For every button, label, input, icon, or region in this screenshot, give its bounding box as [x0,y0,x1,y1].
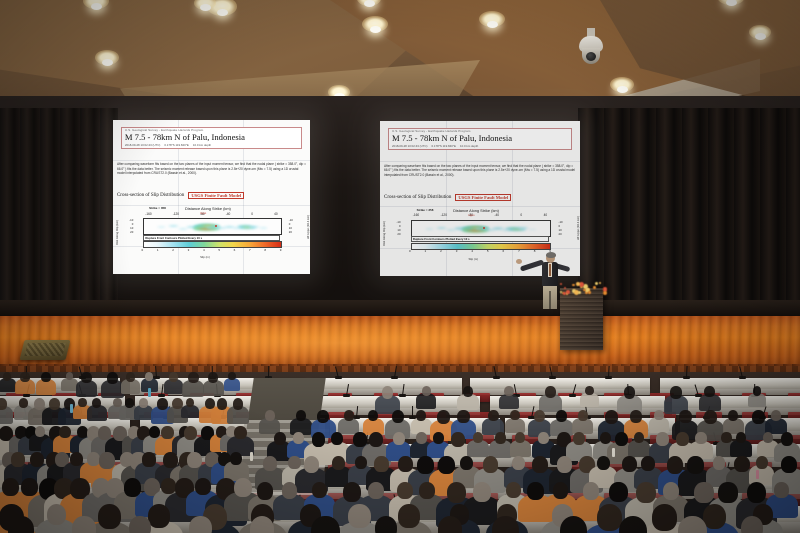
y-axis-ticks-left: -10 0 10 20 [396,220,400,235]
x-tick: -120 [441,213,447,217]
audience-head [217,398,228,410]
auditorium-photo: U.S. Geological Survey - Earthquake Haza… [0,0,800,533]
audience-head [512,456,525,470]
colorbar-tick: 1 [425,249,427,253]
audience-head [3,372,11,381]
colorbar-tick: 6 [503,249,505,253]
downlight-core [755,33,766,40]
audience-head [20,372,29,382]
slide-body-text: After comparing waveform fits based on t… [384,164,576,178]
audience-head [355,456,367,469]
presenter-hair [546,252,556,258]
audience-head [148,504,170,528]
audience-head [704,386,714,397]
projection-screen-left: U.S. Geological Survey - Earthquake Haza… [113,120,310,274]
audience-head [510,410,520,420]
audience-head [676,432,689,446]
y-axis-title-right: dZ Hypo (10.4 km) [306,215,310,239]
audience-head [781,432,794,446]
water-bottle [756,470,759,479]
audience-head [344,410,354,421]
audience-head [734,456,749,472]
audience-head [149,426,160,438]
audience-head [630,410,642,423]
audience-head [398,504,420,528]
audience-head [636,482,656,503]
audience-head [382,386,394,399]
slip-patch [168,225,179,227]
audience-head [495,432,506,444]
slide-body-text: After comparing waveform fits based on t… [117,162,306,176]
section-heading-row: Cross-section of Slip Distribution USGS … [384,194,576,201]
x-axis-ticks: -160 -120 -80 -40 0 40 [413,213,547,217]
lectern-panel-texture [560,288,603,350]
lectern [560,288,603,350]
audience-head [747,482,767,503]
event-depth: 10.0 km depth [460,144,478,148]
audience-head [98,504,121,529]
audience-head [473,432,483,443]
audience-head [161,478,176,494]
downlight-core [91,3,102,10]
audience-head [624,386,636,399]
colorbar-tick: 3 [456,249,458,253]
x-tick: -160 [413,213,419,217]
audience-head [348,504,371,528]
audience-head [374,456,388,472]
audience-head [622,456,637,472]
audience-head [583,482,599,500]
x-axis-title: Distance Along Strike (km) [453,208,499,213]
audience-head [195,478,211,495]
audience-head [145,372,153,381]
section-label: Cross-section of Slip Distribution [117,193,184,198]
contour-note: Rupture Front Contours Plotted Every 10 … [411,236,549,242]
flower [595,282,598,285]
wall-trim [0,300,800,316]
audience-head [527,482,544,500]
audience-head [515,432,525,443]
audience-head [506,482,521,498]
x-tick: 40 [274,212,278,216]
audience-head [331,432,343,445]
finite-fault-badge: USGS Finite Fault Model [455,194,511,201]
y-axis-title-left: Dist Along Dip (km) [115,220,119,245]
x-tick: -160 [145,212,151,216]
audience-head [398,456,413,472]
slip-patch [446,229,456,231]
audience-head [126,372,135,382]
audience-head [504,386,514,396]
downlight-core [217,9,228,16]
audience-head [263,456,277,471]
audience-head [41,372,51,382]
colorbar-tick: 5 [487,249,489,253]
flower [564,287,567,290]
usgs-slide: U.S. Geological Survey - Earthquake Haza… [113,120,310,274]
flower [566,290,570,294]
audience-head [718,482,737,503]
audience-head [736,432,746,443]
x-tick: 0 [520,213,522,217]
audience-head [578,410,588,421]
audience-head [397,482,413,499]
audience-head [615,432,628,446]
audience-head [353,432,367,447]
audience-head [641,456,655,471]
x-tick: 0 [251,212,253,216]
event-datetime: 2018-09-28 10:02:43 (UTC) [125,143,161,147]
y-tick: 20 [397,232,400,236]
audience-head [0,398,7,410]
audience-head [293,432,304,444]
section-label: Cross-section of Slip Distribution [384,195,451,200]
x-tick: -120 [173,212,179,216]
audience-head [721,432,731,443]
audience-head [781,456,797,473]
audience-head [343,482,361,502]
stage-curtain-left [0,108,118,320]
downlight-core [364,0,375,7]
audience-head [129,516,151,533]
flower [588,291,590,293]
audience-head [438,456,455,474]
y-tick: 20 [130,230,133,234]
lecture-desk [660,378,800,389]
colorbar-tick: 0 [142,248,144,252]
colorbar-tick: 2 [440,249,442,253]
audience-head [230,452,242,465]
audience-head [585,386,594,395]
audience-head [483,456,498,473]
audience-head [188,372,198,383]
audience-head [368,482,384,499]
audience-head [600,432,611,444]
audience-head [704,410,717,424]
audience-head [416,410,426,421]
dome-security-camera [576,28,606,70]
slide-header: U.S. Geological Survey - Earthquake Haza… [121,127,302,149]
water-bottle [612,448,615,457]
audience-head [184,426,197,440]
audience-head [139,398,148,408]
audience-head [538,432,549,444]
audience-head [756,456,768,469]
audience-head [741,516,763,533]
audience-head [687,456,704,474]
audience-head [451,432,465,447]
audience-head [257,482,273,500]
audience-head [332,456,345,470]
flower [599,282,601,284]
audience-head [208,372,218,383]
downlight-core [200,4,211,11]
audience-head [695,432,706,444]
audience-head [417,456,433,474]
audience-head [21,478,38,496]
audience-head [49,398,60,410]
audience-head [288,456,300,469]
audience-head [11,452,25,467]
event-meta: 2018-09-28 10:02:43 (UTC) 0.178°S 119.84… [125,143,298,147]
downlight-core [102,59,113,66]
slip-patch [425,228,434,230]
audience-head [8,516,33,533]
slip-patch [259,227,268,229]
y-axis-ticks-right: -10 0 10 20 [559,220,563,235]
audience-head [656,432,669,446]
audience-head [771,410,781,421]
audience-head [19,398,28,408]
audience-head [422,386,432,396]
colorbar-tick: 5 [218,248,220,252]
flower [572,284,574,286]
audience-head [679,410,691,423]
audience-head [163,452,178,468]
audience-head [609,482,627,502]
colorbar-tick: 1 [157,248,159,252]
audience-head [234,426,246,439]
water-bottle [250,452,253,461]
x-tick: -40 [226,212,231,216]
colorbar-tick: 8 [264,248,266,252]
colorbar-tick: 2 [172,248,174,252]
audience-head [35,426,45,437]
flower [576,282,580,286]
desk-microphone [412,406,413,418]
audience-head [670,386,682,399]
presenter-tie [549,264,551,276]
audience-head [753,386,762,396]
podium-flower-arrangement [556,281,608,295]
colorbar-tick: 9 [280,248,282,252]
flower [560,283,562,285]
audience-head [99,452,114,469]
audience-head [557,456,572,473]
audience-head [72,516,96,533]
audience-head [265,410,275,421]
hypocenter-marker [215,225,217,227]
audience-head [189,516,212,533]
audience-head [142,452,155,467]
presenter-leg-gap [549,291,551,309]
audience-head [667,456,683,474]
audience-head [532,456,548,473]
slip-heatmap [411,220,551,238]
hypocenter-label: Hypo [468,214,474,217]
hypocenter-label: Hypo [200,212,206,215]
y-tick: 20 [559,232,562,236]
flower [593,286,596,289]
slip-patch [528,229,537,231]
contour-note: Rupture Front Contours Plotted Every 10 … [143,235,279,241]
audience-head [545,386,556,398]
downlight-core [487,21,498,28]
audience-head [663,482,680,500]
colorbar-label: Slip (m) [468,257,478,261]
colorbar-tick: 6 [234,248,236,252]
audience-head [573,432,585,445]
audience-head [433,432,444,444]
stage-curtain-right [578,108,800,320]
audience-head [457,410,469,423]
audience-head [437,410,450,424]
audience-head [59,426,70,438]
event-coordinates: 0.178°S 119.840°E [164,143,188,147]
y-tick: 20 [289,230,292,234]
x-axis-ticks: -160 -120 -80 -40 0 40 [145,212,277,216]
audience-head [488,410,499,421]
downlight-core [617,86,628,93]
finite-fault-badge: USGS Finite Fault Model [188,192,244,199]
audience-head [274,432,286,445]
audience-head [70,452,83,466]
colorbar-tick: 7 [249,248,251,252]
audience-head [317,410,329,423]
y-axis-ticks-left: -10 0 10 20 [129,218,133,233]
water-bottle [70,404,73,413]
event-meta: 2018-09-28 10:02:43 (UTC) 0.178°S 119.84… [392,144,568,148]
colorbar-tick: 3 [188,248,190,252]
audience-head [694,482,713,503]
x-tick: 40 [544,213,548,217]
x-axis-title: Distance Along Strike (km) [185,206,231,211]
strike-label: Strike = 358 [417,208,434,212]
lecture-desk [470,378,650,389]
presenter-hand-left [516,259,522,264]
event-title: M 7.5 - 78km N of Palu, Indonesia [392,134,568,144]
audience-head [774,482,789,498]
audience-head [473,482,491,502]
x-tick: -40 [494,213,499,217]
audience-head [713,456,726,470]
water-bottle [148,388,151,397]
slip-patch [178,228,188,230]
event-coordinates: 0.178°S 119.840°E [432,144,456,148]
slide-header: U.S. Geological Survey - Earthquake Haza… [388,128,572,150]
audience-head [447,482,466,503]
slip-distribution-plot: Strike = 358 Distance Along Strike (km) … [117,206,306,268]
audience-head [282,482,298,499]
audience-head [463,386,473,397]
audience-head [169,372,178,382]
colorbar-tick: 0 [409,249,411,253]
audience-head [30,452,44,467]
event-datetime: 2018-09-28 10:02:43 (UTC) [392,144,428,148]
audience-head [369,432,383,447]
audience-head [728,410,738,421]
audience-head [125,398,134,408]
audience-head [78,398,87,407]
y-axis-ticks-right: -10 0 10 20 [289,218,293,233]
audience-head [304,456,320,473]
audience-head [157,398,168,410]
colorbar-ticks: 0123456789 [142,248,282,252]
lecture-desk [320,396,480,408]
audience-head [234,478,252,497]
audience-head [81,372,91,383]
desk-microphone [268,366,270,378]
y-axis-title-left: Dist Along Dip (km) [382,221,386,246]
audience-head [534,410,545,422]
audience-head [47,504,67,525]
flower [583,289,585,291]
audience-head [393,432,405,445]
flower [603,291,608,296]
audience-head [605,410,618,424]
event-depth: 10.0 km depth [193,143,211,147]
audience-head [654,410,664,420]
audience-head [312,432,326,447]
audience-head [752,410,765,424]
section-heading-row: Cross-section of Slip Distribution USGS … [117,192,306,199]
colorbar-ticks: 0123456789 [409,249,551,253]
audience-head [416,432,427,444]
audience-head [228,372,236,380]
y-axis-title-right: dZ Hypo (10.4 km) [576,216,580,240]
stage-monitor-speaker [20,340,71,360]
colorbar-tick: 4 [471,249,473,253]
lecture-desk [672,396,800,408]
audience-head [368,410,378,421]
downlight-core [370,26,381,33]
audience-head [312,482,327,498]
event-title: M 7.5 - 78km N of Palu, Indonesia [125,133,298,143]
audience-head [460,456,473,470]
audience-head [92,398,101,408]
audience-head [556,410,567,422]
slip-patch [157,226,166,228]
audience-head [233,398,244,410]
audience-head [161,426,173,439]
audience-head [296,410,306,421]
colorbar-label: Slip (m) [200,255,210,259]
audience-head [553,482,569,499]
audience-head [107,372,118,384]
strike-label: Strike = 358 [149,206,166,210]
slip-heatmap [143,218,281,235]
audience-head [113,398,122,407]
colorbar-tick: 4 [203,248,205,252]
colorbar-tick: 8 [534,249,536,253]
flower [578,291,581,294]
audience-head [597,456,610,470]
audience-head [392,410,404,423]
audience-head [419,482,435,499]
audience-head [652,504,677,531]
colorbar-tick: 7 [518,249,520,253]
audience-head [87,452,100,466]
